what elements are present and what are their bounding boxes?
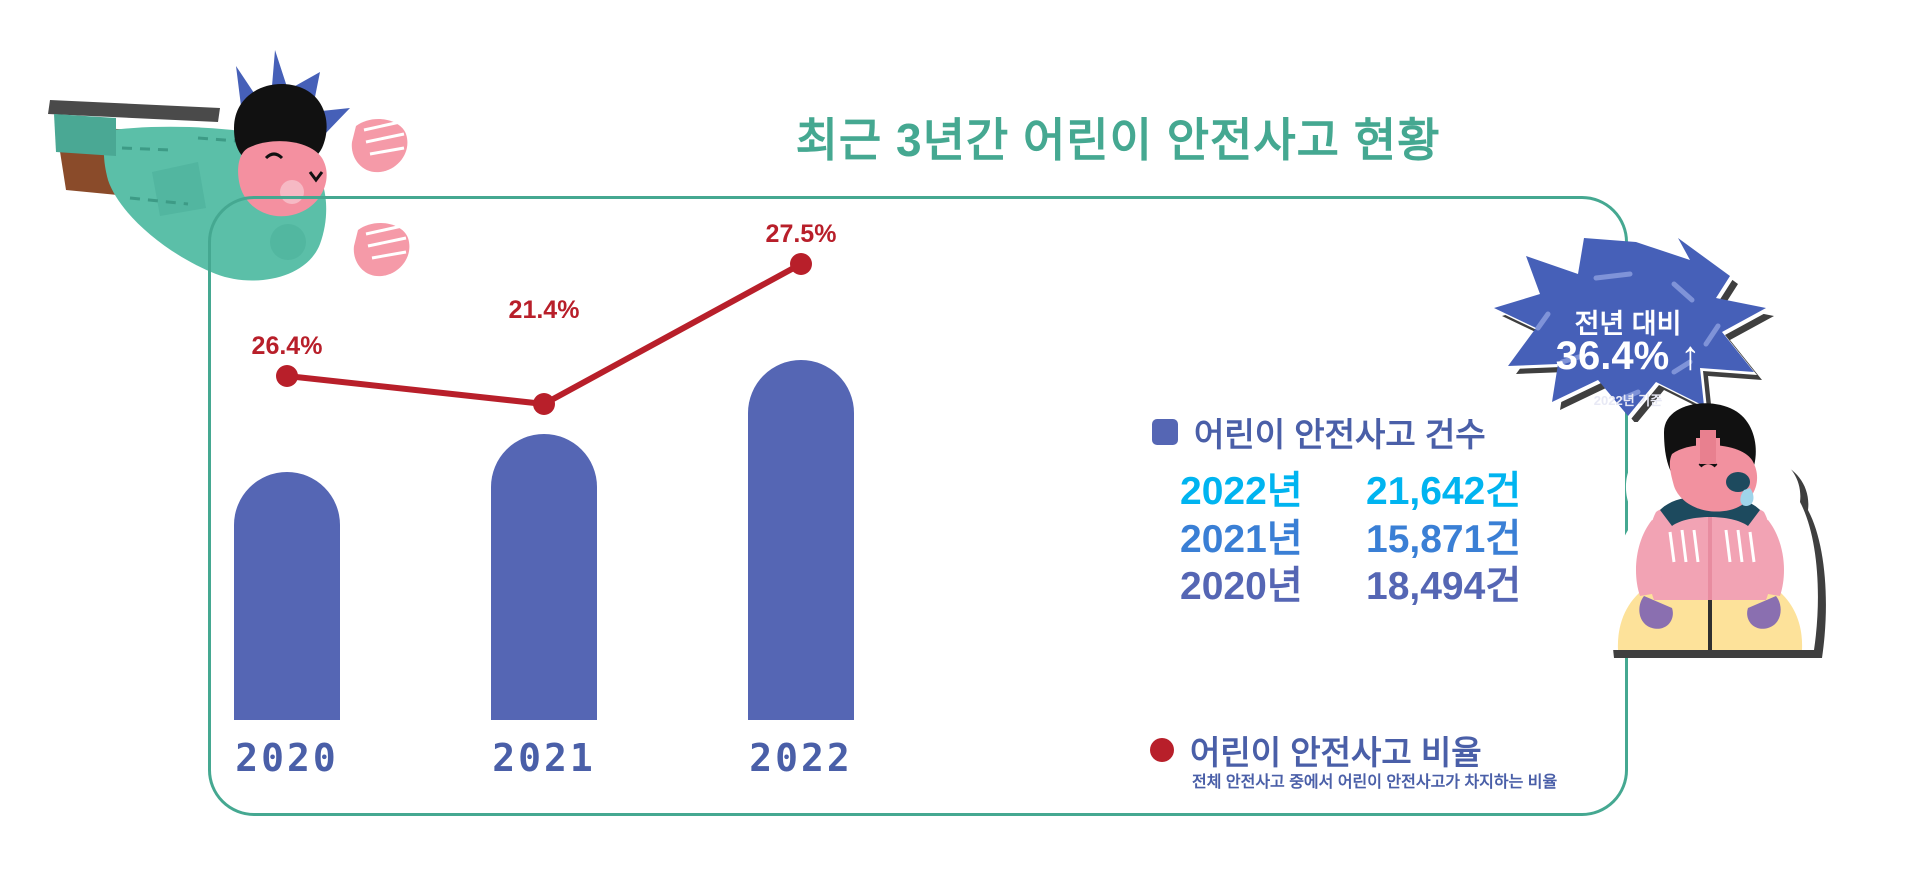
data-row-value: 21,642건 [1366,468,1521,516]
line-point-2021 [533,393,555,415]
ratio-line-series [208,196,1108,816]
child-crying-illustration [1560,400,1860,670]
badge-value: 36.4% ↑ [1478,334,1778,379]
line-point-2020 [276,365,298,387]
badge-note: 2022년 기준 [1478,390,1778,409]
chart-area: 26.4% 21.4% 27.5% 2020 2021 2022 [208,196,1108,816]
data-row-2021: 2021년 15,871건 [1180,516,1521,564]
line-point-2022 [790,253,812,275]
circle-dot-icon [1150,738,1174,762]
legend-line-sublabel: 전체 안전사고 중에서 어린이 안전사고가 차지하는 비율 [1192,768,1557,792]
data-row-value: 15,871건 [1366,516,1521,564]
status-badge: 전년 대비 36.4% ↑ 2022년 기준 [1478,222,1778,422]
infographic-canvas: 최근 3년간 어린이 안전사고 현황 26.4% 21.4% 27.5% 202… [0,0,1920,888]
legend-line-label: 어린이 안전사고 비율 [1190,726,1482,774]
axis-label-2020: 2020 [187,736,387,780]
axis-label-2021: 2021 [444,736,644,780]
ratio-label-2021: 21.4% [454,296,634,325]
legend-bars: 어린이 안전사고 건수 [1152,408,1486,456]
data-row-year: 2020년 [1180,563,1332,611]
data-row-2022: 2022년 21,642건 [1180,468,1521,516]
data-row-2020: 2020년 18,494건 [1180,563,1521,611]
data-row-year: 2022년 [1180,468,1332,516]
ratio-label-2020: 26.4% [197,332,377,361]
data-row-value: 18,494건 [1366,563,1521,611]
page-title: 최근 3년간 어린이 안전사고 현황 [796,104,1441,170]
ratio-label-2022: 27.5% [711,220,891,249]
axis-label-2022: 2022 [701,736,901,780]
data-list: 2022년 21,642건 2021년 15,871건 2020년 18,494… [1180,468,1521,611]
data-row-year: 2021년 [1180,516,1332,564]
legend-bars-label: 어린이 안전사고 건수 [1194,408,1486,456]
square-swatch-icon [1152,419,1178,445]
legend-line: 어린이 안전사고 비율 [1150,726,1482,774]
